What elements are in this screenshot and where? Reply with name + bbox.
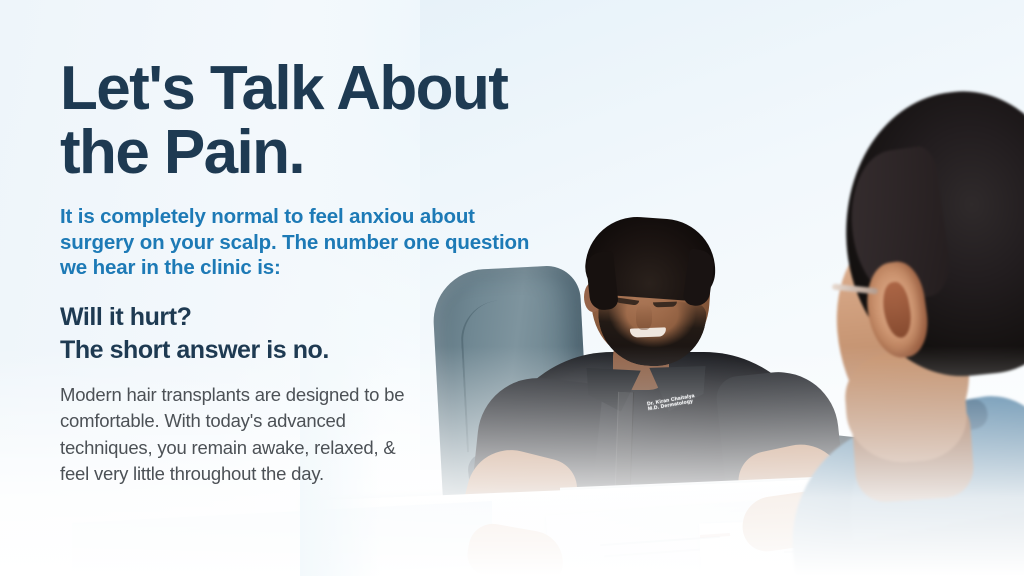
- lede-paragraph: It is completely normal to feel anxiou a…: [60, 204, 534, 281]
- body-paragraph: Modern hair transplants are designed to …: [60, 382, 412, 487]
- question-heading: Will it hurt? The short answer is no.: [60, 301, 600, 367]
- slide-canvas: Dr. Kiran Chaitalya M.D. Dermatology: [0, 0, 1024, 576]
- headline: Let's Talk About the Pain.: [60, 57, 600, 185]
- copy-block: Let's Talk About the Pain. It is complet…: [60, 0, 600, 487]
